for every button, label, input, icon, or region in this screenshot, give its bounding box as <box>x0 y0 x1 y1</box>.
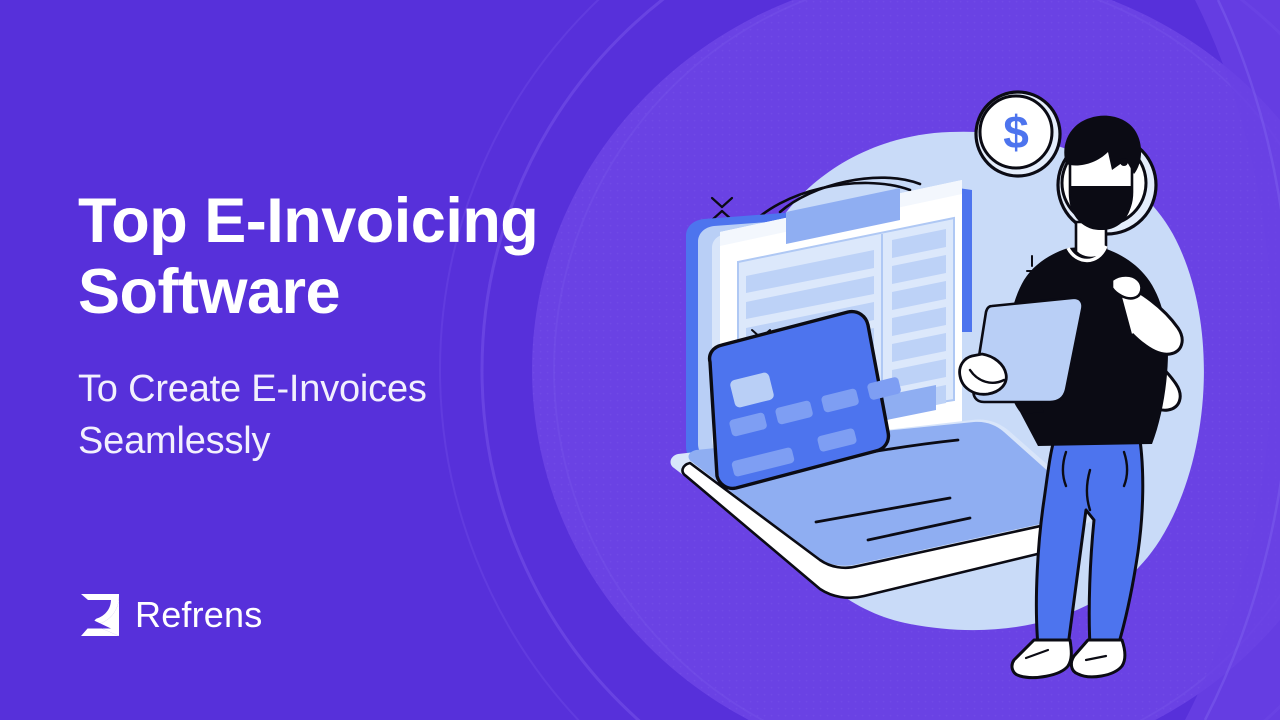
coin-one: $ <box>976 92 1060 176</box>
brand-logo[interactable]: Refrens <box>78 592 262 638</box>
refrens-arrow-mark-icon <box>78 592 122 638</box>
page-subtitle: To Create E-Invoices Seamlessly <box>78 364 658 467</box>
marketing-banner: Top E-Invoicing Software To Create E-Inv… <box>0 0 1280 720</box>
hero-text-block: Top E-Invoicing Software To Create E-Inv… <box>78 186 658 467</box>
brand-name: Refrens <box>135 597 262 633</box>
sparkle-icon <box>712 198 732 220</box>
e-invoicing-illustration: $ $ <box>620 40 1280 700</box>
page-title: Top E-Invoicing Software <box>78 186 658 328</box>
shoe-right <box>1071 640 1125 677</box>
shoe-left <box>1012 640 1071 678</box>
svg-text:$: $ <box>1003 106 1029 158</box>
